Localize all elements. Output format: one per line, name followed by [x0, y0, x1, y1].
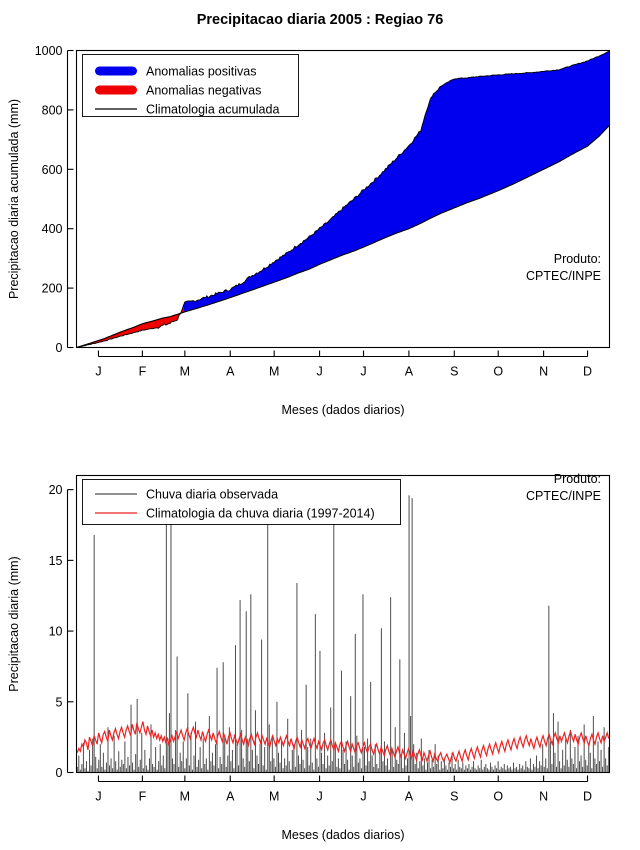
- rain-bar: [516, 767, 517, 773]
- y-axis-tick-label: 15: [49, 554, 63, 568]
- rain-bar: [373, 767, 374, 773]
- rain-bar: [459, 767, 460, 773]
- rain-bar: [273, 758, 274, 772]
- rain-bar: [525, 761, 526, 772]
- rain-bar: [467, 768, 468, 772]
- x-axis-title: Meses (dados diarios): [282, 828, 405, 842]
- rain-bar: [307, 747, 308, 772]
- rain-bar: [304, 768, 305, 772]
- rain-bar: [249, 761, 250, 772]
- rain-bar: [478, 765, 479, 772]
- rain-bar: [604, 727, 605, 772]
- rain-bar: [283, 768, 284, 772]
- rain-bar: [138, 767, 139, 773]
- rain-bar: [392, 750, 393, 773]
- rain-bar: [184, 768, 185, 772]
- rain-bar: [507, 765, 508, 772]
- rain-bar: [370, 682, 371, 773]
- rain-bar: [533, 764, 534, 772]
- x-axis-tick-label: S: [450, 365, 458, 379]
- daily-precipitation-chart: 05101520 JFMAMJJASOND Precipitacao diari…: [0, 425, 640, 850]
- rain-bar: [256, 756, 257, 773]
- rain-bar: [260, 744, 261, 772]
- accumulated-precipitation-chart: Precipitacao diaria 2005 : Regiao 76 020…: [0, 0, 640, 425]
- rain-bar: [91, 765, 92, 772]
- rain-bar: [412, 498, 413, 772]
- observed-rain-bars: [77, 492, 609, 772]
- rain-bar: [539, 761, 540, 772]
- rain-bar: [352, 756, 353, 773]
- rain-bar: [581, 756, 582, 773]
- rain-bar: [172, 758, 173, 772]
- rain-bar: [217, 668, 218, 773]
- rain-bar: [496, 768, 497, 772]
- rain-bar: [303, 760, 304, 773]
- rain-bar: [522, 765, 523, 772]
- rain-bar: [455, 764, 456, 772]
- y-axis-title: Precipitacao diaria (mm): [7, 556, 21, 691]
- rain-bar: [295, 767, 296, 773]
- rain-bar: [186, 758, 187, 772]
- rain-bar: [350, 696, 351, 772]
- y-axis-tick-label: 0: [56, 341, 63, 355]
- rain-bar: [143, 768, 144, 772]
- rain-bar: [343, 750, 344, 773]
- rain-bar: [112, 768, 113, 772]
- rain-bar: [530, 758, 531, 772]
- rain-bar: [195, 722, 196, 773]
- rain-bar: [177, 657, 178, 773]
- rain-bar: [137, 699, 138, 773]
- rain-bar: [361, 768, 362, 772]
- rain-bar: [427, 763, 428, 773]
- rain-bar: [579, 761, 580, 772]
- rain-bar: [599, 761, 600, 772]
- rain-bar: [381, 628, 382, 772]
- rain-bar: [244, 767, 245, 773]
- rain-bar: [296, 583, 297, 773]
- rain-bar: [223, 662, 224, 772]
- rain-bar: [487, 768, 488, 772]
- rain-bar: [441, 761, 442, 772]
- rain-bar: [521, 768, 522, 772]
- x-axis-tick-label: M: [180, 790, 190, 804]
- rain-bar: [78, 756, 79, 773]
- rain-bar: [502, 768, 503, 772]
- x-axis-tick-label: S: [450, 790, 458, 804]
- rain-bar: [369, 761, 370, 772]
- y-axis-tick-label: 5: [56, 695, 63, 709]
- rain-bar: [398, 764, 399, 772]
- rain-bar: [183, 741, 184, 772]
- rain-bar: [287, 719, 288, 773]
- rain-bar: [146, 765, 147, 772]
- x-axis-title: Meses (dados diarios): [282, 403, 405, 417]
- rain-bar: [100, 744, 101, 772]
- legend-label: Climatologia da chuva diaria (1997-2014): [146, 507, 375, 521]
- legend-label: Climatologia acumulada: [146, 103, 279, 117]
- rain-bar: [123, 764, 124, 772]
- rain-bar: [501, 767, 502, 773]
- rain-bar: [160, 744, 161, 772]
- rain-bar: [189, 765, 190, 772]
- rain-bar: [587, 765, 588, 772]
- rain-bar: [319, 651, 320, 773]
- rain-bar: [238, 765, 239, 772]
- rain-bar: [436, 764, 437, 772]
- rain-bar: [462, 763, 463, 773]
- rain-bar: [468, 764, 469, 772]
- rain-bar: [548, 606, 549, 773]
- y-axis-tick-label: 800: [42, 103, 63, 117]
- rain-bar: [286, 765, 287, 772]
- rain-bar: [218, 768, 219, 772]
- rain-bar: [278, 753, 279, 773]
- rain-bar: [127, 757, 128, 773]
- rain-bar: [333, 501, 334, 773]
- rain-bar: [364, 747, 365, 772]
- rain-bar: [481, 760, 482, 773]
- rain-bar: [280, 763, 281, 773]
- x-axis-tick-label: M: [180, 365, 190, 379]
- rain-bar: [544, 767, 545, 773]
- rain-bar: [442, 768, 443, 772]
- rain-bar: [366, 765, 367, 772]
- rain-bar: [491, 767, 492, 773]
- rain-bar: [332, 761, 333, 772]
- rain-bar: [405, 765, 406, 772]
- rain-bar: [315, 614, 316, 772]
- rain-bar: [212, 753, 213, 773]
- rain-bar: [582, 767, 583, 773]
- rain-bar: [387, 758, 388, 772]
- rain-bar: [409, 495, 410, 772]
- rain-bar: [573, 764, 574, 772]
- rain-bar: [210, 761, 211, 772]
- x-axis-tick-label: J: [95, 365, 101, 379]
- x-axis-accumulated: JFMAMJJASOND: [95, 351, 592, 379]
- rain-bar: [144, 750, 145, 773]
- rain-bar: [559, 761, 560, 772]
- y-axis-tick-label: 1000: [35, 44, 63, 58]
- rain-bar: [149, 758, 150, 772]
- credit-line-1: Produto:: [554, 252, 601, 266]
- rain-bar: [233, 768, 234, 772]
- rain-bar: [498, 761, 499, 772]
- rain-bar: [309, 765, 310, 772]
- x-axis-daily: JFMAMJJASOND: [95, 776, 592, 804]
- rain-bar: [594, 758, 595, 772]
- rain-bar: [220, 757, 221, 773]
- page-title: Precipitacao diaria 2005 : Regiao 76: [197, 12, 444, 28]
- rain-bar: [541, 765, 542, 772]
- rain-bar: [588, 744, 589, 772]
- rain-bar: [155, 747, 156, 772]
- rain-bar: [347, 760, 348, 773]
- rain-bar: [367, 739, 368, 773]
- rain-bar: [203, 739, 204, 773]
- rain-bar: [344, 764, 345, 772]
- rain-bar: [593, 716, 594, 773]
- rain-bar: [605, 758, 606, 772]
- daily-plot-area: [77, 492, 609, 772]
- y-axis-tick-label: 10: [49, 625, 63, 639]
- rain-bar: [433, 767, 434, 773]
- rain-bar: [402, 768, 403, 772]
- x-axis-tick-label: A: [226, 365, 235, 379]
- daily-chart-svg: 05101520 JFMAMJJASOND Precipitacao diari…: [0, 425, 640, 850]
- rain-bar: [170, 524, 171, 773]
- rain-bar: [413, 744, 414, 772]
- rain-bar: [213, 765, 214, 772]
- rain-bar: [289, 761, 290, 772]
- rain-bar: [178, 767, 179, 773]
- rain-bar: [131, 705, 132, 773]
- legend-daily: Chuva diaria observadaClimatologia da ch…: [83, 480, 401, 525]
- rain-bar: [310, 739, 311, 773]
- rain-bar: [551, 764, 552, 772]
- rain-bar: [450, 767, 451, 773]
- x-axis-tick-label: N: [539, 790, 548, 804]
- rain-bar: [267, 501, 268, 773]
- rain-bar: [568, 767, 569, 773]
- rain-bar: [510, 767, 511, 773]
- rain-bar: [252, 750, 253, 773]
- rain-bar: [396, 760, 397, 773]
- rain-bar: [84, 768, 85, 772]
- rain-bar: [430, 768, 431, 772]
- rain-bar: [545, 758, 546, 772]
- rain-bar: [264, 747, 265, 772]
- rain-bar: [562, 750, 563, 773]
- rain-bar: [318, 767, 319, 773]
- legend-label: Anomalias negativas: [146, 84, 261, 98]
- rain-bar: [353, 767, 354, 773]
- rain-bar: [570, 730, 571, 772]
- rain-bar: [226, 767, 227, 773]
- x-axis-tick-label: J: [316, 790, 322, 804]
- rain-bar: [261, 640, 262, 773]
- rain-bar: [161, 765, 162, 772]
- x-axis-tick-label: J: [95, 790, 101, 804]
- rain-bar: [527, 767, 528, 773]
- rain-bar: [535, 767, 536, 773]
- rain-bar: [602, 767, 603, 773]
- rain-bar: [472, 767, 473, 773]
- rain-bar: [106, 763, 107, 773]
- y-axis-accumulated: 02004006008001000: [35, 44, 74, 355]
- legend-accumulated: Anomalias positivasAnomalias negativasCl…: [83, 55, 299, 117]
- rain-bar: [158, 761, 159, 772]
- y-axis-tick-label: 400: [42, 222, 63, 236]
- negative-anomaly-area: [77, 306, 184, 348]
- rain-bar: [250, 594, 251, 772]
- rain-bar: [98, 760, 99, 773]
- rain-bar: [547, 768, 548, 772]
- rain-bar: [597, 741, 598, 772]
- rain-bar: [461, 768, 462, 772]
- rain-bar: [519, 764, 520, 772]
- rain-bar: [485, 764, 486, 772]
- rain-bar: [386, 765, 387, 772]
- rain-bar: [382, 761, 383, 772]
- x-axis-tick-label: F: [139, 790, 147, 804]
- rain-bar: [418, 768, 419, 772]
- rain-bar: [129, 765, 130, 772]
- rain-bar: [422, 765, 423, 772]
- rain-bar: [321, 753, 322, 773]
- credit-line-2: CPTEC/INPE: [526, 269, 601, 283]
- x-axis-tick-label: A: [405, 790, 414, 804]
- rain-bar: [284, 758, 285, 772]
- rain-bar: [567, 760, 568, 773]
- rain-bar: [114, 736, 115, 773]
- rain-bar: [206, 758, 207, 772]
- rain-bar: [246, 611, 247, 772]
- rain-bar: [181, 761, 182, 772]
- rain-bar: [270, 761, 271, 772]
- rain-bar: [101, 767, 102, 773]
- rain-bar: [338, 758, 339, 772]
- rain-bar: [180, 753, 181, 773]
- x-axis-tick-label: J: [360, 790, 366, 804]
- rain-bar: [372, 756, 373, 773]
- rain-bar: [576, 768, 577, 772]
- x-axis-tick-label: D: [583, 365, 592, 379]
- rain-bar: [358, 763, 359, 773]
- rain-bar: [564, 765, 565, 772]
- x-axis-tick-label: J: [316, 365, 322, 379]
- rain-bar: [565, 739, 566, 773]
- rain-bar: [232, 750, 233, 773]
- rain-bar: [561, 768, 562, 772]
- rain-bar: [558, 722, 559, 773]
- rain-bar: [115, 761, 116, 772]
- rain-bar: [126, 768, 127, 772]
- rain-bar: [465, 765, 466, 772]
- x-axis-tick-label: O: [493, 790, 503, 804]
- rain-bar: [292, 750, 293, 773]
- y-axis-tick-label: 600: [42, 163, 63, 177]
- rain-bar: [103, 753, 104, 773]
- rain-bar: [590, 753, 591, 773]
- rain-bar: [253, 768, 254, 772]
- rain-bar: [473, 761, 474, 772]
- legend-label: Chuva diaria observada: [146, 488, 278, 502]
- rain-bar: [359, 758, 360, 772]
- rain-bar: [376, 764, 377, 772]
- rain-bar: [235, 645, 236, 772]
- rain-bar: [432, 760, 433, 773]
- x-axis-tick-label: F: [139, 365, 147, 379]
- rain-bar: [95, 757, 96, 773]
- rain-bar: [515, 768, 516, 772]
- rain-bar: [329, 765, 330, 772]
- rain-bar: [174, 764, 175, 772]
- rain-bar: [89, 750, 90, 773]
- rain-bar: [164, 768, 165, 772]
- rain-bar: [591, 768, 592, 772]
- rain-bar: [335, 744, 336, 772]
- y-axis-tick-label: 200: [42, 282, 63, 296]
- rain-bar: [536, 756, 537, 773]
- x-axis-tick-label: J: [360, 365, 366, 379]
- rain-bar: [243, 758, 244, 772]
- rain-bar: [224, 736, 225, 773]
- rain-bar: [448, 763, 449, 773]
- rain-bar: [298, 756, 299, 773]
- credit-line-1: Produto:: [554, 472, 601, 486]
- rain-bar: [424, 758, 425, 772]
- rain-bar: [504, 764, 505, 772]
- accumulated-chart-svg: Precipitacao diaria 2005 : Regiao 76 020…: [0, 0, 640, 425]
- y-axis-daily: 05101520: [49, 483, 74, 780]
- rain-bar: [484, 767, 485, 773]
- rain-bar: [390, 597, 391, 772]
- rain-bar: [299, 764, 300, 772]
- rain-bar: [574, 747, 575, 772]
- rain-bar: [556, 767, 557, 773]
- legend-label: Anomalias positivas: [146, 65, 256, 79]
- rain-bar: [281, 741, 282, 772]
- rain-bar: [194, 756, 195, 773]
- legend-swatch: [95, 67, 137, 76]
- rain-bar: [152, 764, 153, 772]
- rain-bar: [272, 736, 273, 773]
- rain-bar: [356, 736, 357, 773]
- rain-bar: [132, 763, 133, 773]
- x-axis-tick-label: A: [226, 790, 235, 804]
- rain-bar: [538, 768, 539, 772]
- rain-bar: [258, 764, 259, 772]
- x-axis-tick-label: A: [405, 365, 414, 379]
- rain-bar: [607, 765, 608, 772]
- x-axis-tick-label: M: [269, 790, 279, 804]
- x-axis-tick-label: N: [539, 365, 548, 379]
- daily-series: [77, 492, 609, 772]
- rain-bar: [198, 760, 199, 773]
- rain-bar: [571, 758, 572, 772]
- x-axis-tick-label: O: [493, 365, 503, 379]
- rain-bar: [221, 764, 222, 772]
- legend-swatch: [95, 86, 137, 95]
- rain-bar: [263, 765, 264, 772]
- rain-bar: [118, 751, 119, 772]
- rain-bar: [86, 761, 87, 772]
- rain-bar: [124, 741, 125, 772]
- rain-bar: [395, 727, 396, 772]
- rain-bar: [306, 685, 307, 773]
- rain-bar: [166, 492, 167, 772]
- rain-bar: [475, 768, 476, 772]
- rain-bar: [585, 760, 586, 773]
- rain-bar: [109, 765, 110, 772]
- rain-bar: [81, 764, 82, 772]
- rain-bar: [542, 744, 543, 772]
- rain-bar: [323, 764, 324, 772]
- rain-bar: [237, 741, 238, 772]
- precipitation-figure: Precipitacao diaria 2005 : Regiao 76 020…: [0, 0, 640, 850]
- rain-bar: [120, 767, 121, 773]
- rain-bar: [407, 758, 408, 772]
- rain-bar: [97, 768, 98, 772]
- rain-bar: [230, 761, 231, 772]
- rain-bar: [419, 761, 420, 772]
- y-axis-title: Precipitacao diaria acumulada (mm): [7, 99, 21, 299]
- rain-bar: [378, 768, 379, 772]
- rain-bar: [204, 764, 205, 772]
- rain-bar: [393, 767, 394, 773]
